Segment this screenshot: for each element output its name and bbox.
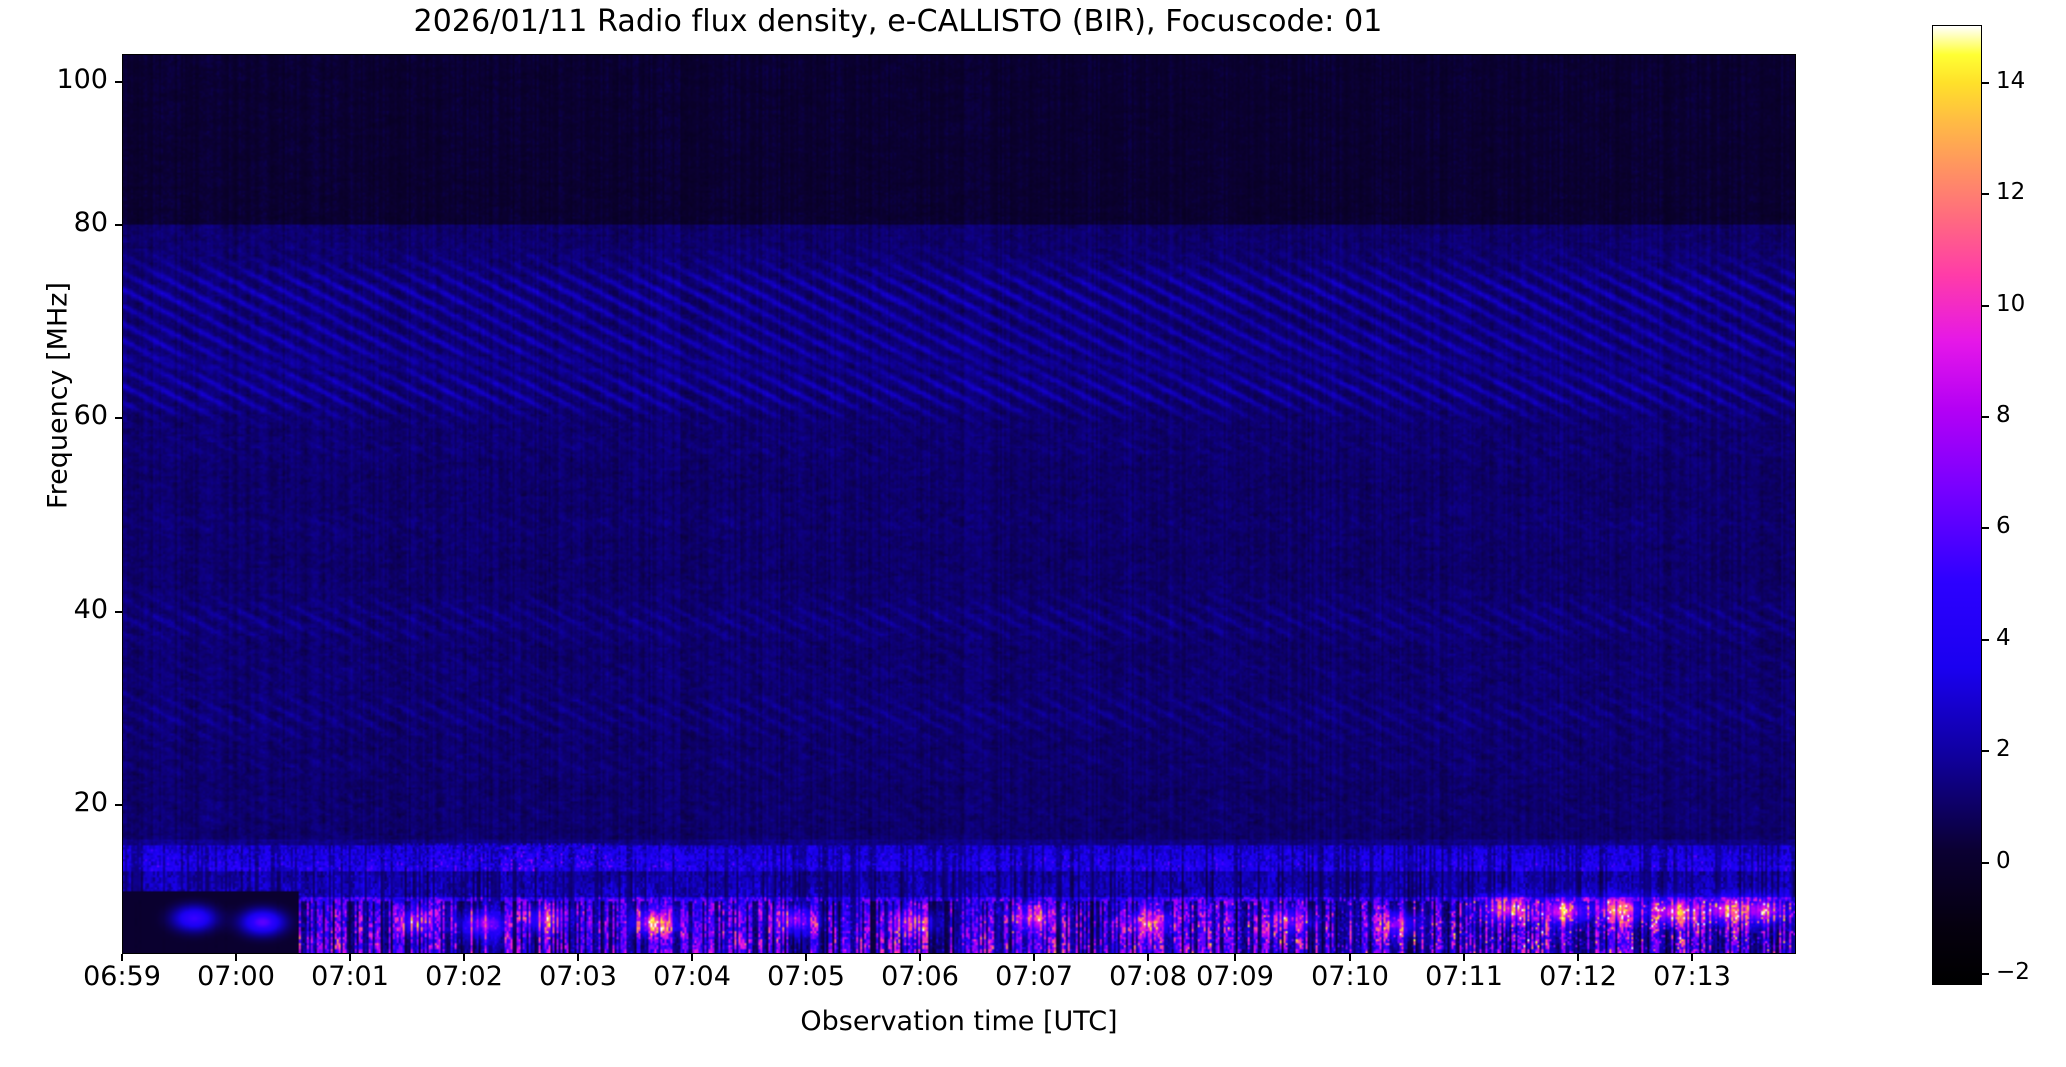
x-tick-mark bbox=[805, 954, 806, 961]
colorbar-tick-label: 2 bbox=[1996, 736, 2056, 762]
x-tick-mark bbox=[1577, 954, 1578, 961]
colorbar-tick-label: 4 bbox=[1996, 625, 2056, 651]
colorbar-tick-label: 8 bbox=[1996, 402, 2056, 428]
colorbar-tick-mark bbox=[1982, 193, 1989, 194]
y-tick-label: 80 bbox=[38, 207, 108, 238]
y-tick-mark bbox=[115, 81, 122, 82]
colorbar-tick-mark bbox=[1982, 527, 1989, 528]
x-tick-mark bbox=[121, 954, 122, 961]
y-tick-mark bbox=[115, 611, 122, 612]
page-title: 2026/01/11 Radio flux density, e-CALLIST… bbox=[0, 4, 1796, 40]
y-tick-label: 100 bbox=[38, 64, 108, 95]
y-tick-mark bbox=[115, 804, 122, 805]
x-tick-mark bbox=[1147, 954, 1148, 961]
spectrogram-image bbox=[123, 55, 1795, 953]
y-tick-mark bbox=[115, 417, 122, 418]
colorbar-tick-mark bbox=[1982, 973, 1989, 974]
colorbar-tick-label: 10 bbox=[1996, 291, 2056, 317]
figure-canvas: 2026/01/11 Radio flux density, e-CALLIST… bbox=[0, 0, 2066, 1067]
x-tick-mark bbox=[1033, 954, 1034, 961]
x-axis-label: Observation time [UTC] bbox=[122, 1006, 1796, 1037]
x-tick-mark bbox=[1349, 954, 1350, 961]
x-tick-mark bbox=[919, 954, 920, 961]
x-tick-mark bbox=[691, 954, 692, 961]
x-tick-mark bbox=[1463, 954, 1464, 961]
colorbar-gradient bbox=[1933, 26, 1981, 984]
x-tick-mark bbox=[577, 954, 578, 961]
y-tick-mark bbox=[115, 224, 122, 225]
x-tick-mark bbox=[235, 954, 236, 961]
y-tick-label: 40 bbox=[38, 594, 108, 625]
colorbar-tick-mark bbox=[1982, 305, 1989, 306]
colorbar-tick-mark bbox=[1982, 82, 1989, 83]
colorbar-tick-label: 6 bbox=[1996, 513, 2056, 539]
y-tick-label: 20 bbox=[38, 787, 108, 818]
colorbar[interactable] bbox=[1932, 25, 1982, 985]
x-tick-mark bbox=[1234, 954, 1235, 961]
y-tick-label: 60 bbox=[38, 400, 108, 431]
colorbar-tick-label: 12 bbox=[1996, 179, 2056, 205]
colorbar-tick-mark bbox=[1982, 862, 1989, 863]
colorbar-tick-mark bbox=[1982, 639, 1989, 640]
colorbar-tick-label: 14 bbox=[1996, 68, 2056, 94]
x-tick-label: 07:13 bbox=[1622, 961, 1762, 992]
colorbar-tick-label: −2 bbox=[1996, 959, 2056, 985]
x-tick-mark bbox=[1691, 954, 1692, 961]
x-tick-mark bbox=[349, 954, 350, 961]
colorbar-tick-mark bbox=[1982, 416, 1989, 417]
colorbar-tick-label: 0 bbox=[1996, 848, 2056, 874]
spectrogram-plot[interactable] bbox=[122, 54, 1796, 954]
x-tick-mark bbox=[463, 954, 464, 961]
y-axis-label: Frequency [MHz] bbox=[43, 246, 74, 546]
colorbar-tick-mark bbox=[1982, 750, 1989, 751]
